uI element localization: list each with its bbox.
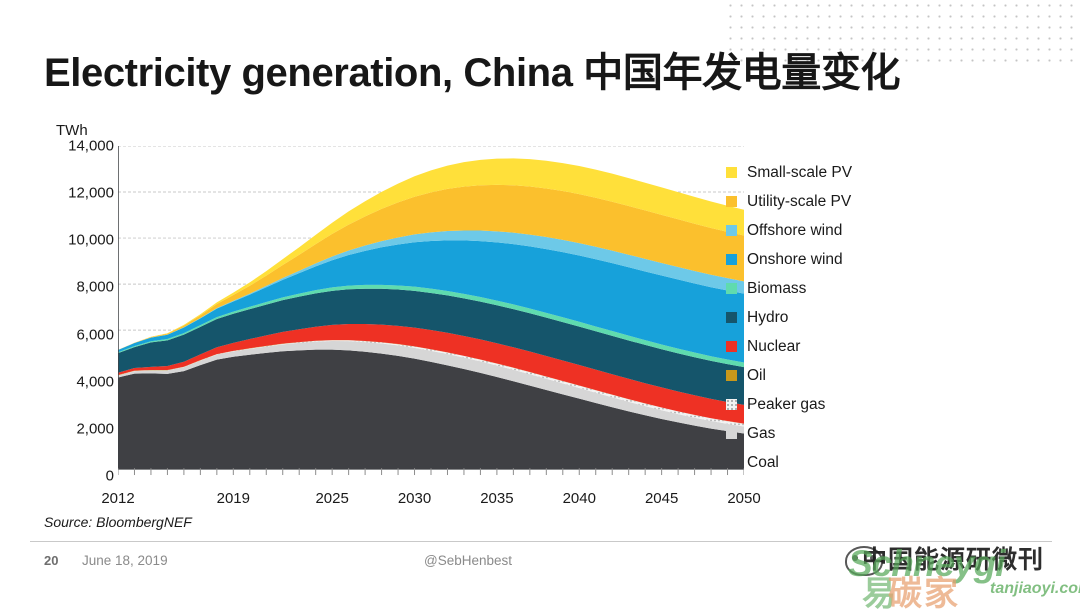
footer-twitter-handle: @SebHenbest	[424, 553, 512, 568]
x-axis-tick-label: 2040	[563, 490, 596, 507]
legend-item[interactable]: Utility-scale PV	[726, 187, 956, 216]
y-axis-tick-label: 14,000	[52, 138, 114, 155]
y-axis-tick-label: 4,000	[52, 373, 114, 390]
stacked-area-plot: 20122019202520302035204020452050	[118, 146, 744, 476]
y-axis-tick-label: 8,000	[52, 279, 114, 296]
watermark-green-script: Schneygi	[848, 543, 1005, 585]
legend-swatch-icon	[726, 457, 737, 468]
legend-label: Small-scale PV	[747, 165, 852, 181]
legend-label: Coal	[747, 455, 779, 471]
page-title: Electricity generation, China 中国年发电量变化	[44, 40, 900, 98]
legend-swatch-icon	[726, 225, 737, 236]
legend-swatch-icon	[726, 370, 737, 381]
legend-item[interactable]: Hydro	[726, 303, 956, 332]
legend-label: Hydro	[747, 310, 788, 326]
footer-divider	[30, 541, 1052, 542]
x-axis-tick-label: 2019	[217, 490, 250, 507]
y-axis-tick-label: 2,000	[52, 420, 114, 437]
legend-swatch-icon	[726, 196, 737, 207]
legend-swatch-icon	[726, 428, 737, 439]
page-title-chinese: 中国年发电量变化	[583, 51, 900, 95]
y-axis-tick-label: 6,000	[52, 326, 114, 343]
y-axis-tick-label: 0	[52, 468, 114, 485]
legend-item[interactable]: Small-scale PV	[726, 158, 956, 187]
legend-item[interactable]: Offshore wind	[726, 216, 956, 245]
legend-item[interactable]: Coal	[726, 448, 956, 477]
legend-item[interactable]: Oil	[726, 361, 956, 390]
legend-label: Nuclear	[747, 339, 800, 355]
legend-item[interactable]: Biomass	[726, 274, 956, 303]
chart-area: TWh 14,00012,00010,0008,0006,0004,0002,0…	[44, 122, 744, 502]
y-axis-tick-label: 12,000	[52, 185, 114, 202]
legend-label: Oil	[747, 368, 766, 384]
legend-swatch-icon	[726, 254, 737, 265]
y-axis-tick-label: 10,000	[52, 232, 114, 249]
watermark-chinese-dark: 中国能源研微刊	[862, 540, 1044, 576]
legend-item[interactable]: Onshore wind	[726, 245, 956, 274]
footer-date: June 18, 2019	[82, 553, 168, 568]
legend-item[interactable]: Nuclear	[726, 332, 956, 361]
y-axis-tick-labels: 14,00012,00010,0008,0006,0004,0002,0000	[44, 122, 114, 502]
x-axis-tick-label: 2030	[398, 490, 431, 507]
watermark-logo-icon	[845, 546, 883, 576]
legend-swatch-icon	[726, 283, 737, 294]
legend-label: Onshore wind	[747, 252, 843, 268]
x-axis-tick-label: 2045	[645, 490, 678, 507]
legend-label: Gas	[747, 426, 775, 442]
x-axis-tick-label: 2025	[315, 490, 348, 507]
legend-label: Peaker gas	[747, 397, 825, 413]
page-title-english: Electricity generation, China	[44, 51, 583, 95]
legend-swatch-icon	[726, 399, 737, 410]
plot-svg	[118, 146, 744, 476]
legend-item[interactable]: Gas	[726, 419, 956, 448]
x-axis-tick-label: 2035	[480, 490, 513, 507]
legend-swatch-icon	[726, 341, 737, 352]
x-axis-tick-label: 2050	[727, 490, 760, 507]
legend-swatch-icon	[726, 167, 737, 178]
legend-swatch-icon	[726, 312, 737, 323]
legend-label: Utility-scale PV	[747, 194, 851, 210]
source-note: Source: BloombergNEF	[44, 514, 192, 530]
legend-label: Biomass	[747, 281, 806, 297]
legend-label: Offshore wind	[747, 223, 842, 239]
chart-legend: Small-scale PVUtility-scale PVOffshore w…	[726, 158, 956, 477]
x-axis-tick-label: 2012	[101, 490, 134, 507]
legend-item[interactable]: Peaker gas	[726, 390, 956, 419]
page-number: 20	[44, 553, 58, 568]
watermark-domain: tanjiaoyi.com	[990, 580, 1080, 598]
